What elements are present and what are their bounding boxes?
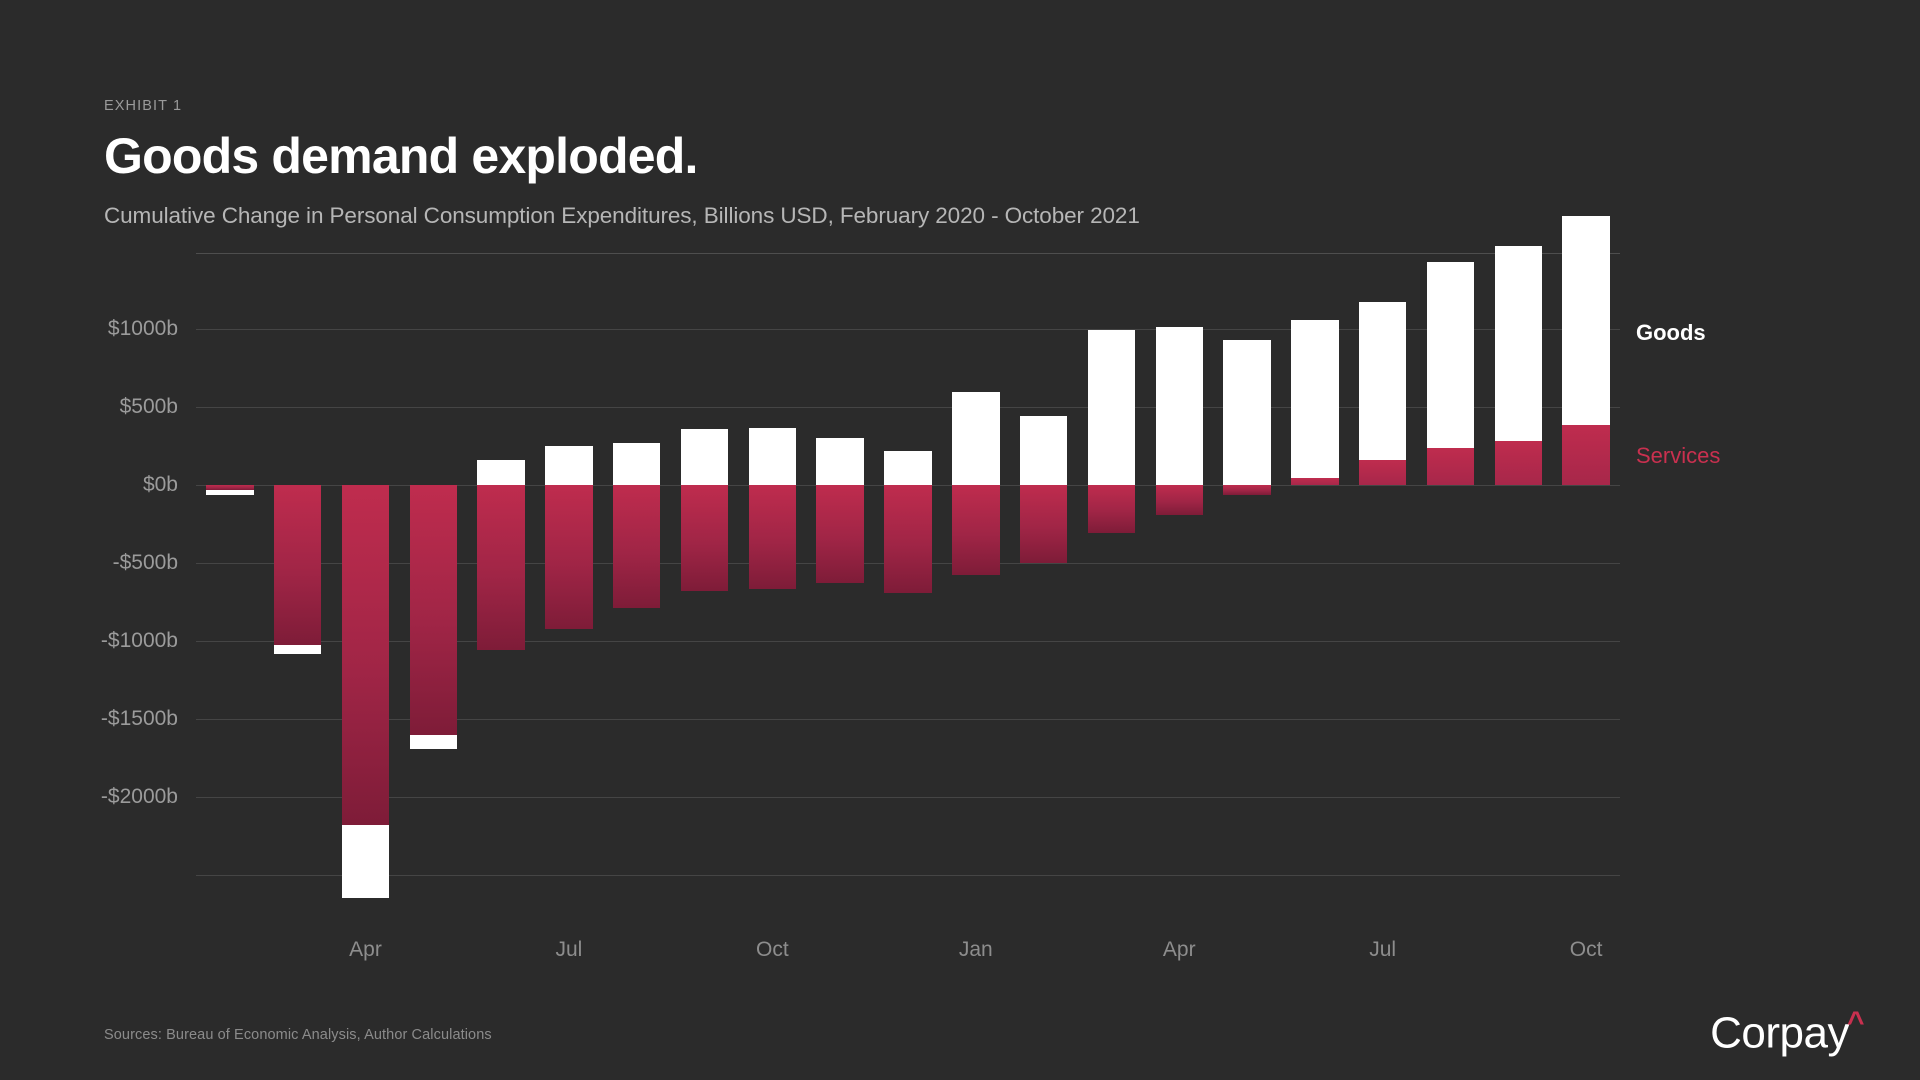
- bar-segment-goods: [477, 460, 524, 485]
- bar-segment-goods: [749, 428, 796, 485]
- bar-group: [545, 253, 592, 900]
- bar-segment-goods: [1562, 216, 1609, 425]
- y-axis-tick-label: -$2000b: [0, 785, 178, 809]
- y-axis-tick-label: $0b: [0, 473, 178, 497]
- bar-segment-goods: [545, 446, 592, 485]
- y-axis-tick-label: -$1000b: [0, 629, 178, 653]
- x-axis-tick-label: Jul: [1369, 938, 1396, 962]
- bar-group: [884, 253, 931, 900]
- bar-segment-goods: [613, 443, 660, 485]
- bar-group: [274, 253, 321, 900]
- bar-segment-goods: [206, 490, 253, 495]
- bar-segment-services: [342, 485, 389, 825]
- bar-segment-goods: [274, 645, 321, 654]
- bar-segment-services: [1291, 478, 1338, 485]
- bar-segment-goods: [1495, 246, 1542, 441]
- x-axis-tick-label: Oct: [1570, 938, 1603, 962]
- x-axis-tick-label: Oct: [756, 938, 789, 962]
- bar-group: [206, 253, 253, 900]
- bar-group: [1020, 253, 1067, 900]
- corpay-logo: Corpay^: [1710, 1008, 1864, 1056]
- bar-segment-goods: [342, 825, 389, 898]
- bar-group: [613, 253, 660, 900]
- bar-segment-services: [410, 485, 457, 735]
- bar-segment-services: [1156, 485, 1203, 515]
- bar-segment-goods: [1223, 340, 1270, 485]
- bar-segment-services: [681, 485, 728, 591]
- y-axis-tick-label: -$1500b: [0, 707, 178, 731]
- bar-segment-services: [1223, 485, 1270, 495]
- bar-segment-goods: [952, 392, 999, 485]
- x-axis-tick-label: Jul: [556, 938, 583, 962]
- bar-group: [1562, 253, 1609, 900]
- bar-segment-goods: [681, 429, 728, 485]
- bar-segment-services: [1020, 485, 1067, 563]
- bar-group: [952, 253, 999, 900]
- bar-segment-services: [749, 485, 796, 589]
- bar-group: [477, 253, 524, 900]
- bar-segment-goods: [816, 438, 863, 485]
- x-axis-tick-label: Jan: [959, 938, 993, 962]
- bar-segment-services: [477, 485, 524, 650]
- y-axis-tick-label: $500b: [0, 395, 178, 419]
- bar-segment-goods: [1088, 330, 1135, 485]
- bar-segment-services: [1562, 425, 1609, 485]
- bar-group: [410, 253, 457, 900]
- bar-segment-goods: [884, 451, 931, 485]
- bar-segment-goods: [1427, 262, 1474, 448]
- bar-segment-services: [1427, 448, 1474, 485]
- bar-segment-goods: [410, 735, 457, 749]
- logo-text: Corpay: [1710, 1009, 1849, 1058]
- source-note: Sources: Bureau of Economic Analysis, Au…: [104, 1027, 492, 1043]
- bar-group: [342, 253, 389, 900]
- bar-group: [1291, 253, 1338, 900]
- legend-item-services: Services: [1636, 443, 1720, 469]
- bar-segment-services: [816, 485, 863, 583]
- y-axis-tick-label: -$500b: [0, 551, 178, 575]
- x-axis-tick-label: Apr: [1163, 938, 1196, 962]
- bar-group: [681, 253, 728, 900]
- bar-segment-goods: [1156, 327, 1203, 485]
- bar-group: [1359, 253, 1406, 900]
- bar-group: [1223, 253, 1270, 900]
- bar-segment-services: [545, 485, 592, 629]
- bar-group: [749, 253, 796, 900]
- y-axis-tick-label: $1000b: [0, 317, 178, 341]
- bar-segment-services: [952, 485, 999, 575]
- bar-segment-goods: [1359, 302, 1406, 460]
- bar-segment-services: [1088, 485, 1135, 533]
- legend-item-goods: Goods: [1636, 320, 1706, 346]
- x-axis-tick-label: Apr: [349, 938, 382, 962]
- bar-group: [1088, 253, 1135, 900]
- chart-area: $1000b$500b$0b-$500b-$1000b-$1500b-$2000…: [0, 0, 1920, 1080]
- bar-segment-services: [274, 485, 321, 645]
- bar-segment-services: [613, 485, 660, 608]
- plot-region: [196, 253, 1620, 900]
- bar-segment-goods: [1291, 320, 1338, 478]
- bar-group: [1495, 253, 1542, 900]
- bar-group: [1156, 253, 1203, 900]
- logo-caret-icon: ^: [1847, 1006, 1864, 1039]
- bar-segment-services: [884, 485, 931, 593]
- bar-segment-services: [1495, 441, 1542, 485]
- bar-segment-services: [1359, 460, 1406, 485]
- bar-group: [1427, 253, 1474, 900]
- bar-segment-goods: [1020, 416, 1067, 485]
- bar-group: [816, 253, 863, 900]
